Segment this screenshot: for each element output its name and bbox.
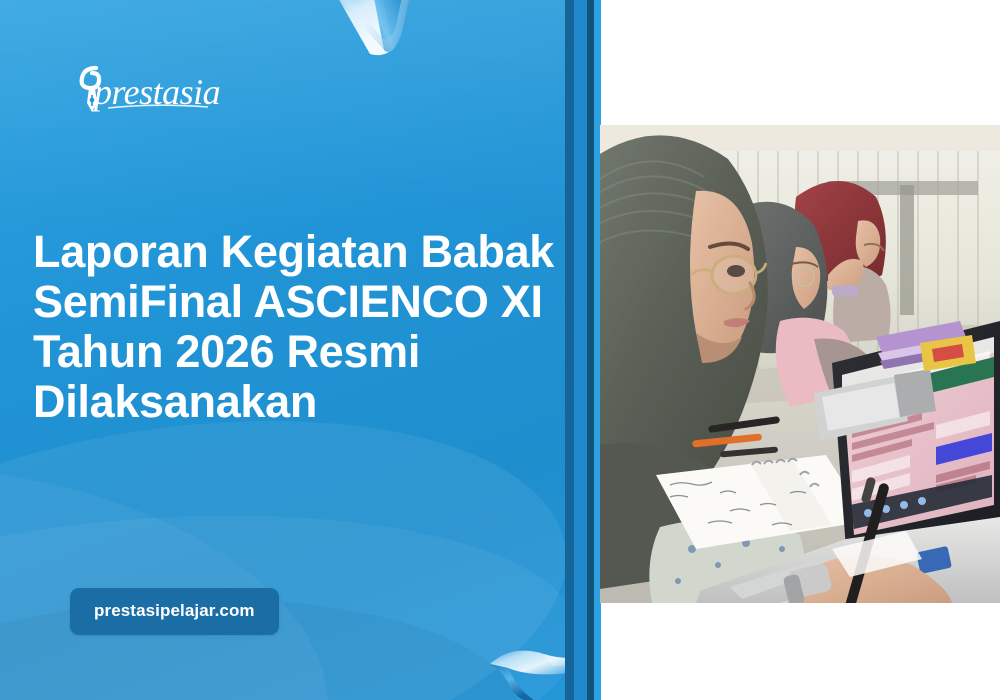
brand-logo[interactable]: prestasia	[68, 62, 268, 116]
website-url-badge[interactable]: prestasipelajar.com	[70, 588, 279, 635]
headline-line-3: Tahun 2026 Resmi	[33, 327, 563, 377]
thumbnail-card: prestasia Laporan Kegiatan Babak SemiFin…	[0, 0, 1000, 700]
headline-line-1: Laporan Kegiatan Babak	[33, 227, 563, 277]
accent-strip-medium	[574, 0, 587, 700]
page-title: Laporan Kegiatan Babak SemiFinal ASCIENC…	[33, 227, 563, 427]
accent-strip-dark	[565, 0, 574, 700]
headline-line-2: SemiFinal ASCIENCO XI	[33, 277, 563, 327]
accent-strip-darkest	[587, 0, 594, 700]
article-photo	[600, 125, 1000, 603]
ribbon-icon	[322, 0, 440, 66]
headline-line-4: Dilaksanakan	[33, 377, 563, 427]
